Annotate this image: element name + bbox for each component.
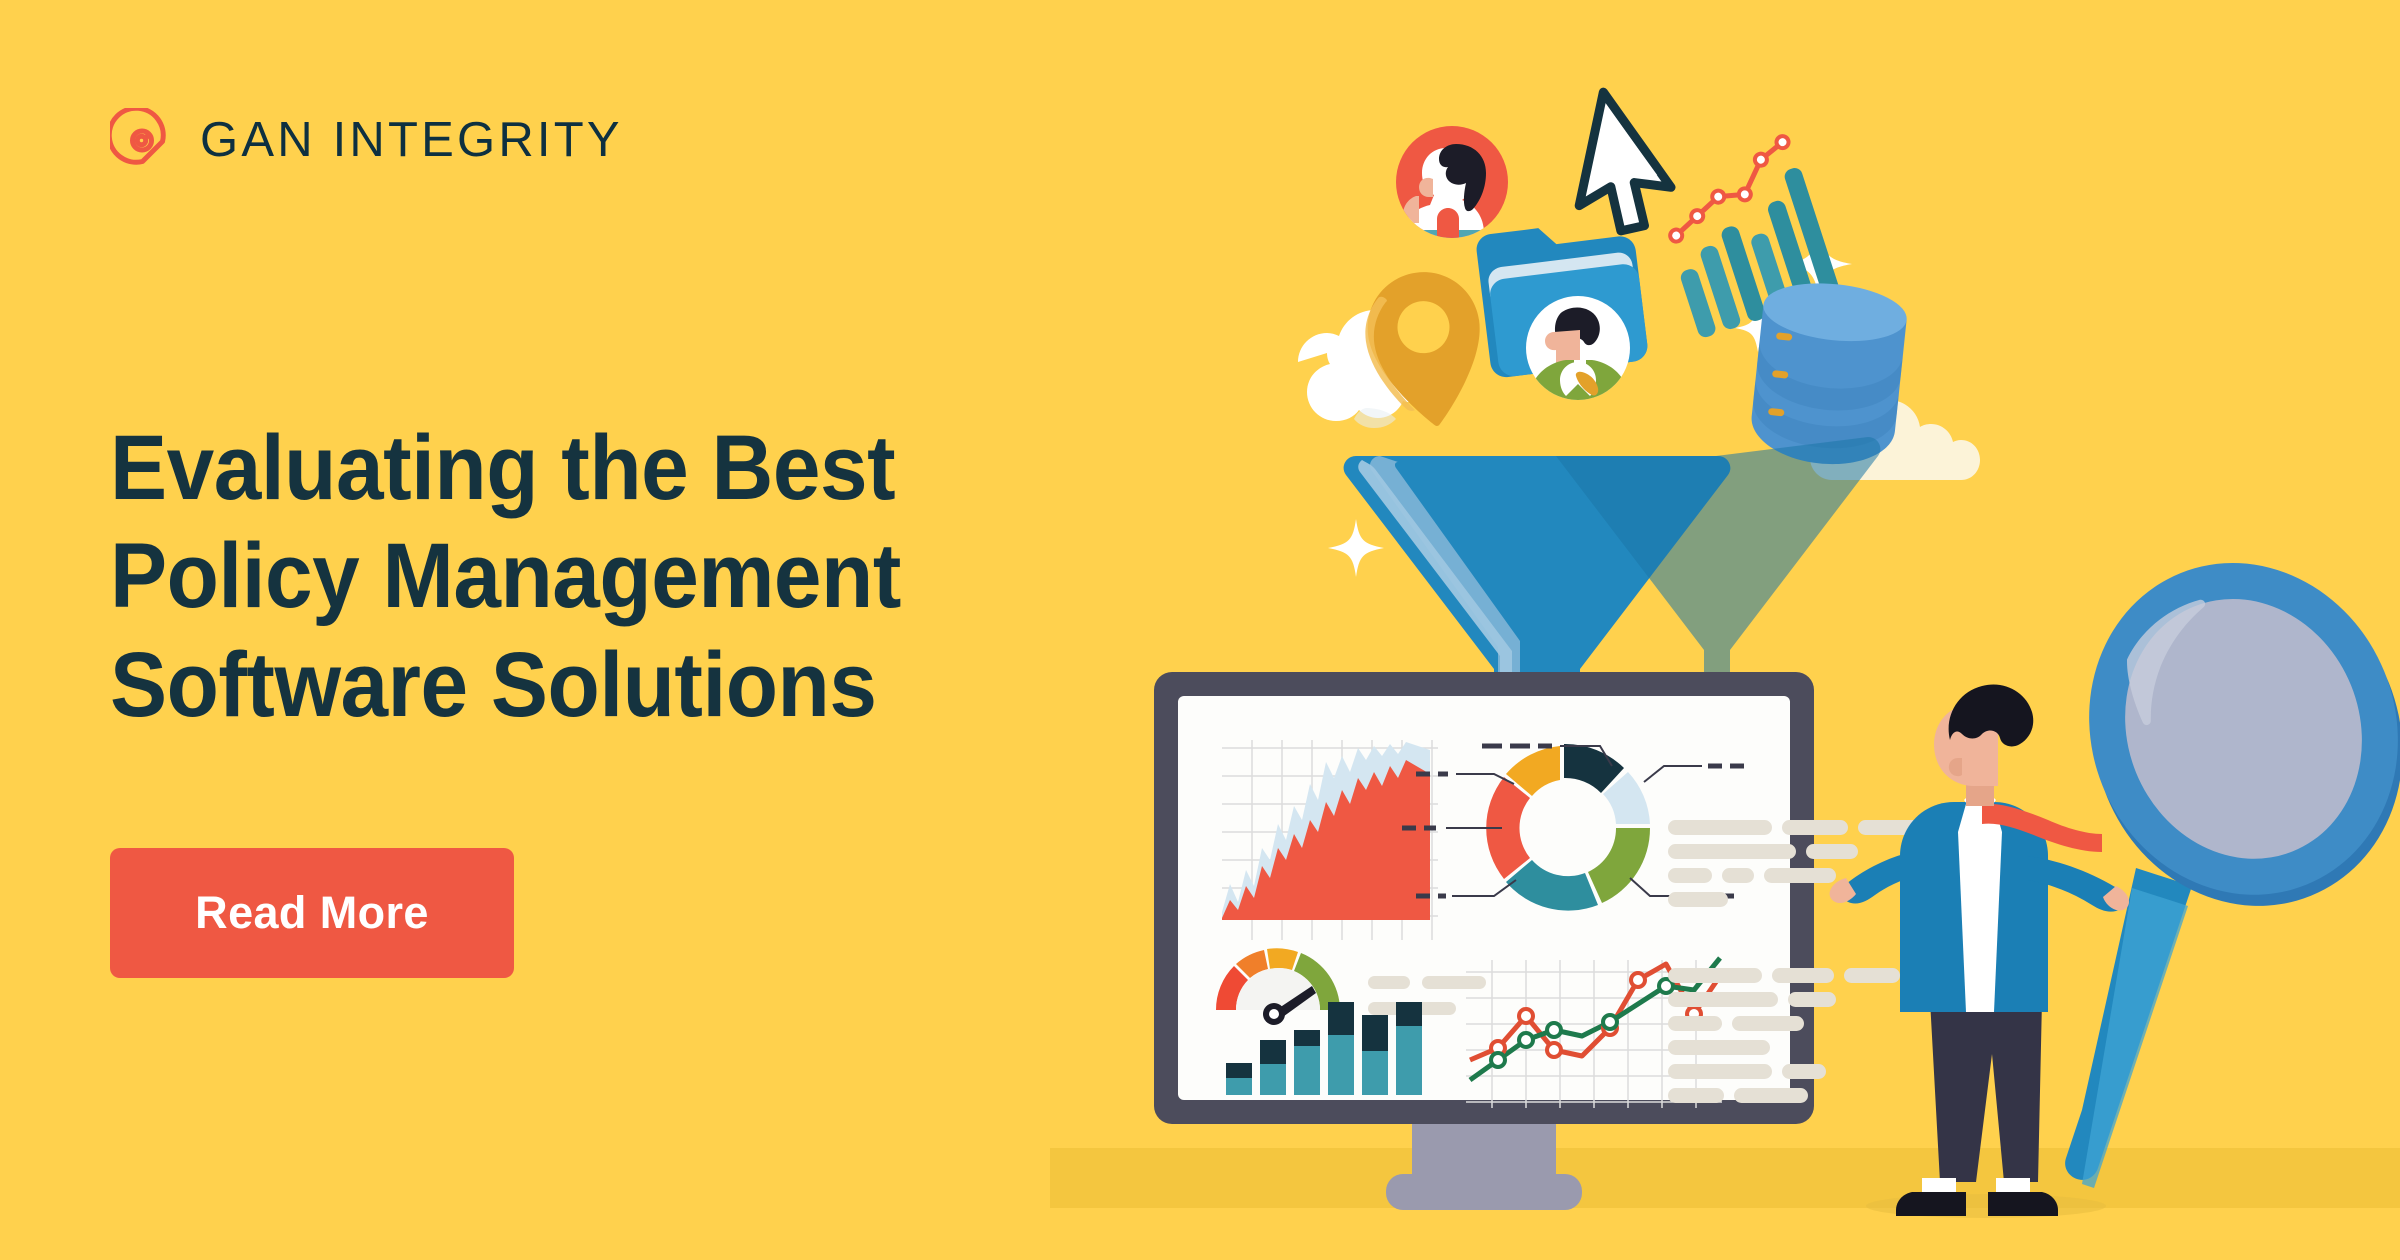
policy-management-illustration <box>1130 60 2400 1220</box>
sparkle-icon <box>1328 519 1384 577</box>
magnifying-glass <box>2040 516 2400 1188</box>
desktop-monitor <box>1154 672 1814 1210</box>
brand-wordmark: GAN INTEGRITY <box>200 112 623 168</box>
bar-group-4 <box>1328 1002 1354 1095</box>
database-cylinder-icon <box>1748 277 1910 471</box>
headline-line-3: Software Solutions <box>110 631 1049 740</box>
headline-line-1: Evaluating the Best <box>110 414 1049 523</box>
bar-group-6 <box>1396 1002 1422 1095</box>
avatar-man-badge-icon <box>1526 296 1630 428</box>
shoe-right <box>1988 1192 2058 1216</box>
bar-group-3 <box>1294 1030 1320 1095</box>
gan-integrity-spiral-mark <box>110 108 174 172</box>
read-more-button[interactable]: Read More <box>110 848 514 978</box>
page-title: Evaluating the Best Policy Management So… <box>110 414 1049 740</box>
bar-group-5 <box>1362 1015 1388 1095</box>
promo-banner: GAN INTEGRITY Evaluating the Best Policy… <box>0 0 2400 1260</box>
headline-line-2: Policy Management <box>110 522 1049 631</box>
monitor-base <box>1386 1174 1582 1210</box>
mouse-cursor-icon <box>1576 92 1688 239</box>
brand-logo[interactable]: GAN INTEGRITY <box>110 108 623 172</box>
trousers <box>1930 1000 2042 1182</box>
bar-group-1 <box>1226 1063 1252 1095</box>
bar-group-2 <box>1260 1040 1286 1095</box>
shoe-left <box>1896 1192 1966 1216</box>
